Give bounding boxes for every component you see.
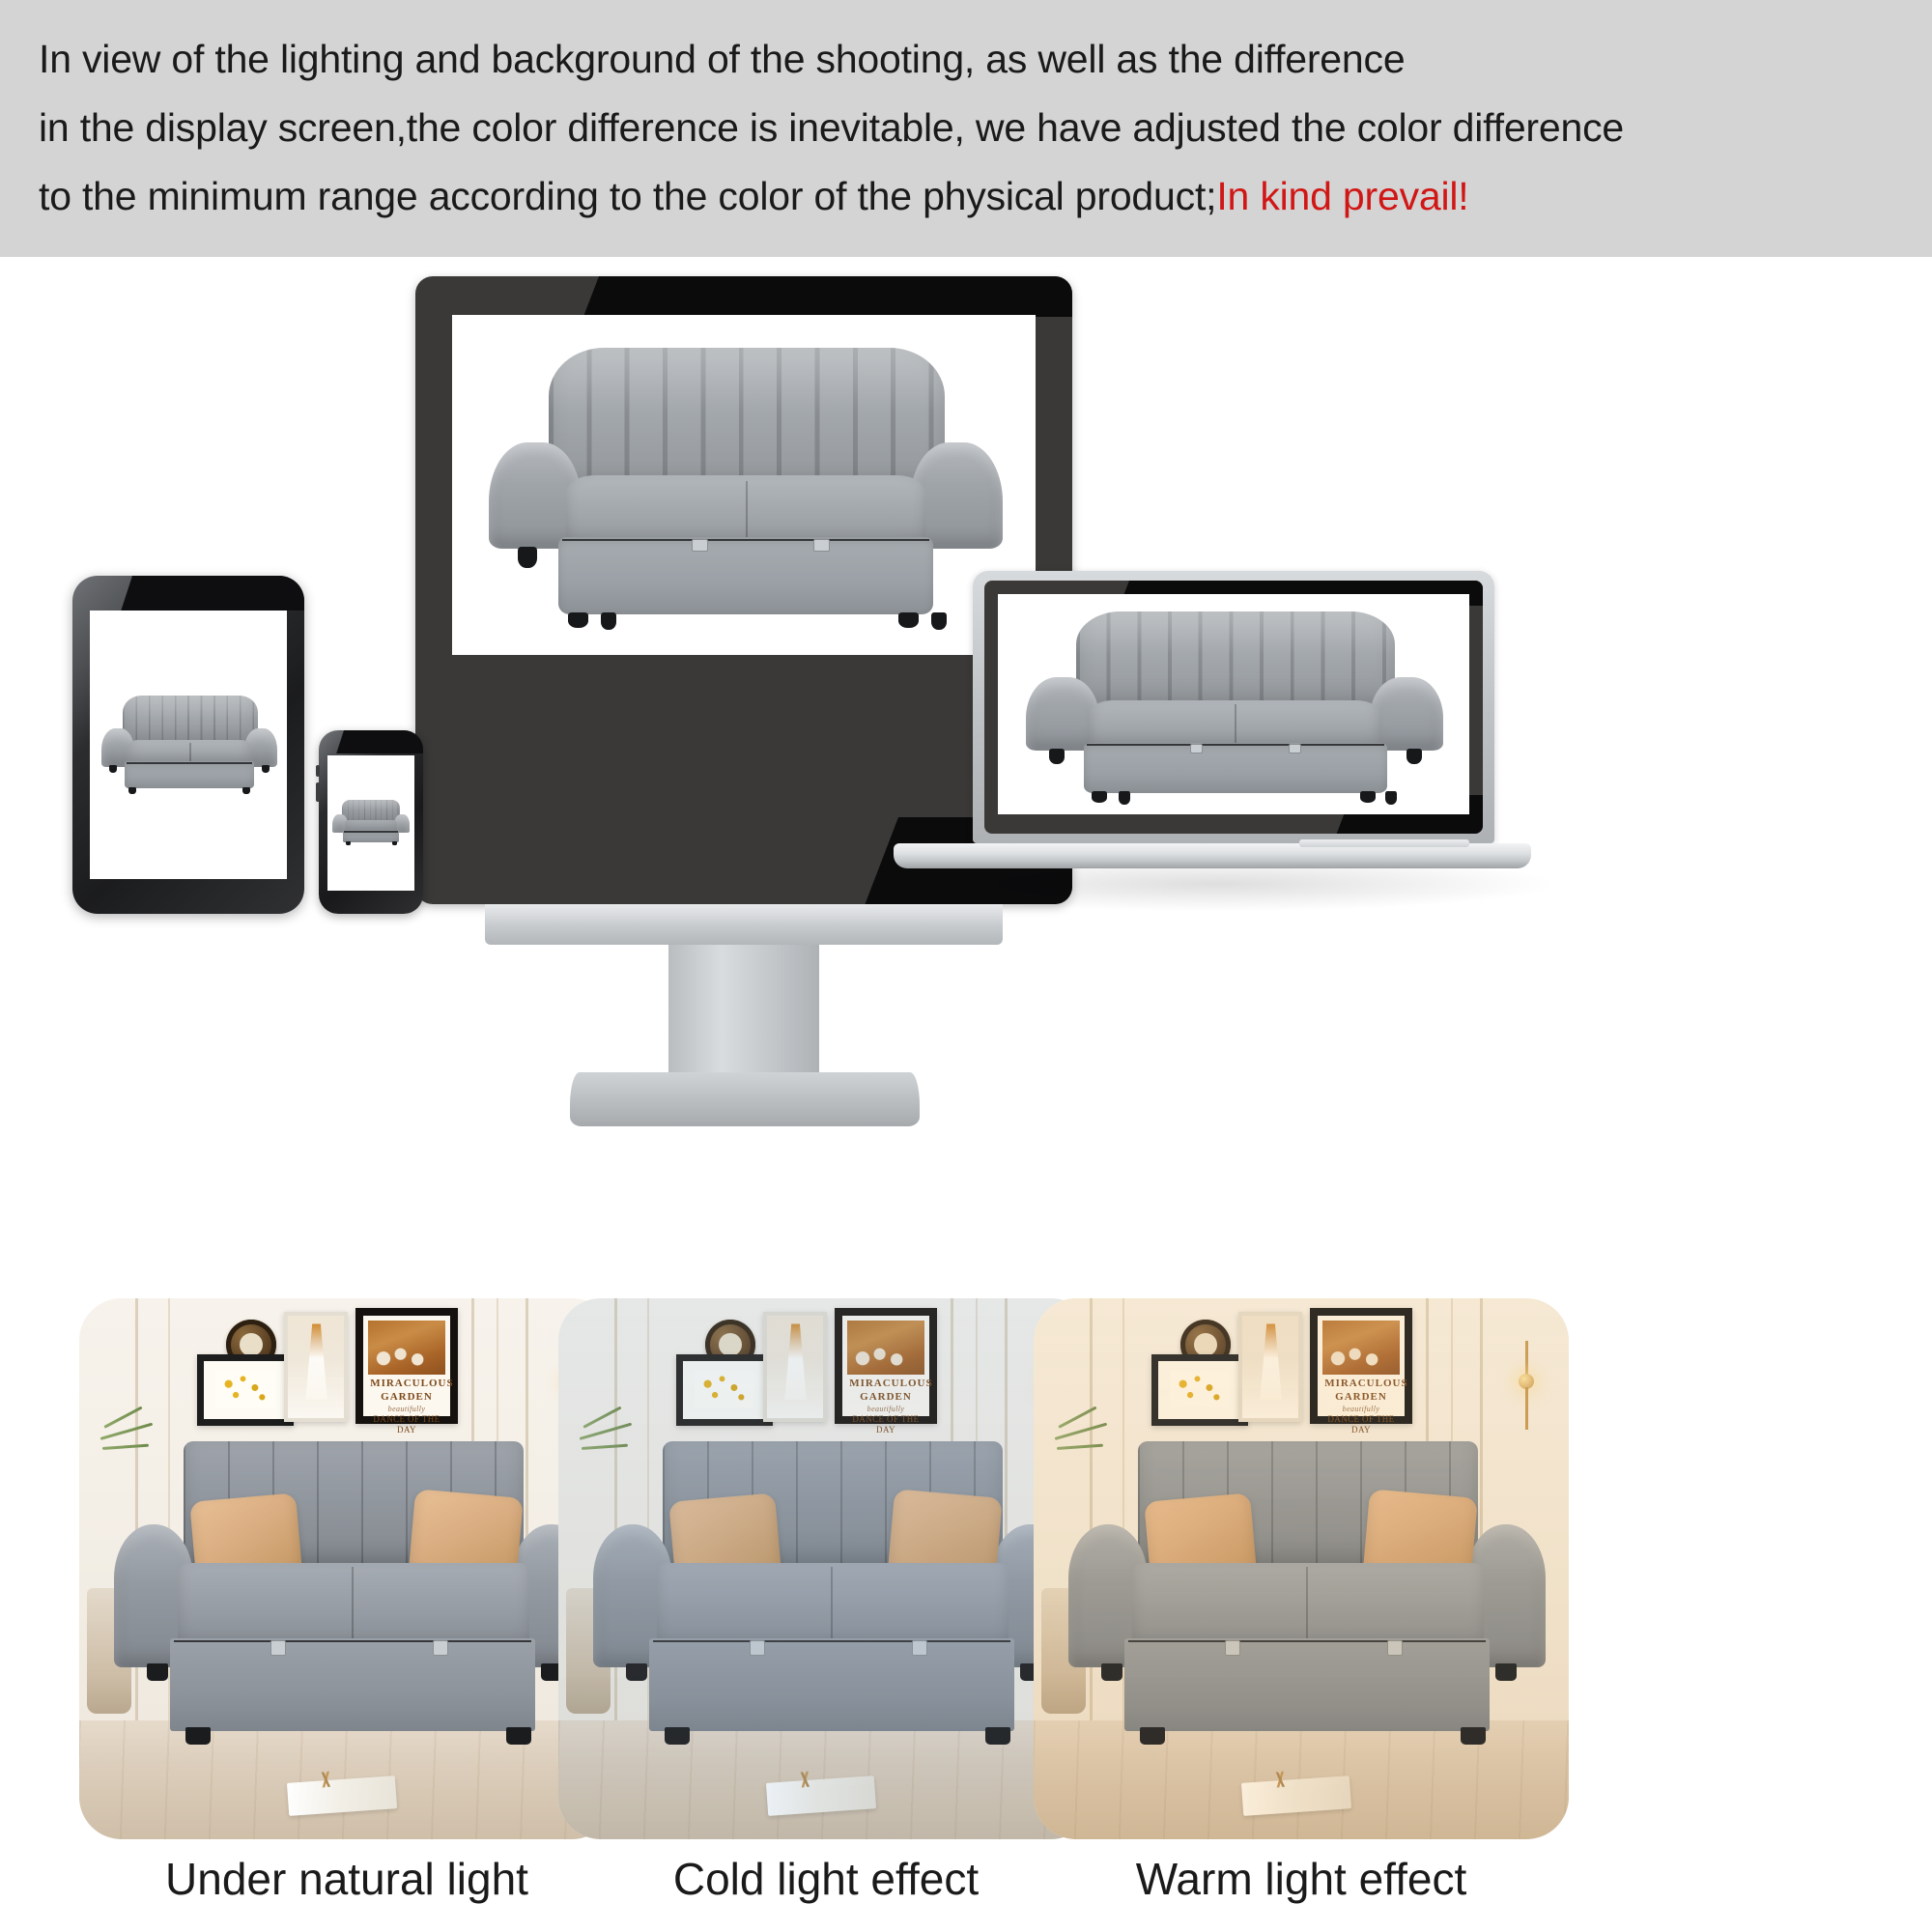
laptop — [894, 571, 1531, 899]
framed-art-botanical — [676, 1354, 773, 1426]
scene-card-warm: MIRACULOUS GARDEN beautifully DANCE OF T… — [1034, 1298, 1569, 1839]
poster-subtitle: DANCE OF THE DAY — [1327, 1414, 1394, 1435]
phone-screen — [327, 755, 414, 891]
wall-sconce-icon — [1515, 1341, 1538, 1434]
color-disclaimer-banner: In view of the lighting and background o… — [0, 0, 1932, 257]
scene-label-cold: Cold light effect — [558, 1853, 1094, 1905]
scene-sofa — [1047, 1441, 1563, 1748]
monitor-stand-neck — [668, 945, 819, 1080]
framed-poster-garden: MIRACULOUS GARDEN beautifully DANCE OF T… — [835, 1308, 937, 1424]
product-photo-laptop — [998, 594, 1469, 814]
disclaimer-line-3: to the minimum range according to the co… — [39, 162, 1893, 231]
in-kind-prevail-warning: In kind prevail! — [1216, 174, 1468, 218]
scene-card-cold: MIRACULOUS GARDEN beautifully DANCE OF T… — [558, 1298, 1094, 1839]
poster-title: MIRACULOUS GARDEN — [1324, 1378, 1398, 1405]
scene-card-natural: MIRACULOUS GARDEN beautifully DANCE OF T… — [79, 1298, 614, 1839]
laptop-screen — [998, 594, 1469, 814]
poster-script: beautifully — [1324, 1405, 1398, 1414]
product-photo-tablet — [90, 611, 287, 879]
framed-poster-garden: MIRACULOUS GARDEN beautifully DANCE OF T… — [355, 1308, 458, 1424]
poster-script: beautifully — [849, 1405, 923, 1414]
monitor-stand-base — [570, 1072, 920, 1126]
framed-poster-garden: MIRACULOUS GARDEN beautifully DANCE OF T… — [1310, 1308, 1412, 1424]
poster-script: beautifully — [370, 1405, 443, 1414]
framed-art-dress — [1238, 1312, 1302, 1422]
lighting-comparison-row: MIRACULOUS GARDEN beautifully DANCE OF T… — [0, 1285, 1932, 1932]
product-photo-phone — [327, 755, 414, 891]
disclaimer-line-3-text: to the minimum range according to the co… — [39, 174, 1216, 218]
poster-title: MIRACULOUS GARDEN — [370, 1378, 443, 1405]
poster-subtitle: DANCE OF THE DAY — [852, 1414, 919, 1435]
laptop-hinge-lip — [1299, 839, 1469, 847]
tablet-screen — [90, 611, 287, 879]
disclaimer-line-1: In view of the lighting and background o… — [39, 25, 1893, 94]
tablet — [72, 576, 304, 914]
framed-art-dress — [284, 1312, 348, 1422]
scene-label-natural: Under natural light — [79, 1853, 614, 1905]
poster-subtitle: DANCE OF THE DAY — [373, 1414, 440, 1435]
scene-sofa — [93, 1441, 609, 1748]
disclaimer-line-2: in the display screen,the color differen… — [39, 94, 1893, 162]
scene-sofa — [572, 1441, 1088, 1748]
framed-art-botanical — [197, 1354, 294, 1426]
smartphone — [319, 730, 423, 914]
phone-volume-button[interactable] — [316, 765, 320, 777]
phone-power-button[interactable] — [316, 782, 320, 802]
scene-label-warm: Warm light effect — [1034, 1853, 1569, 1905]
framed-art-dress — [763, 1312, 827, 1422]
product-detail-image: In view of the lighting and background o… — [0, 0, 1932, 1932]
device-mockup-group — [0, 257, 1932, 1262]
poster-title: MIRACULOUS GARDEN — [849, 1378, 923, 1405]
framed-art-botanical — [1151, 1354, 1248, 1426]
